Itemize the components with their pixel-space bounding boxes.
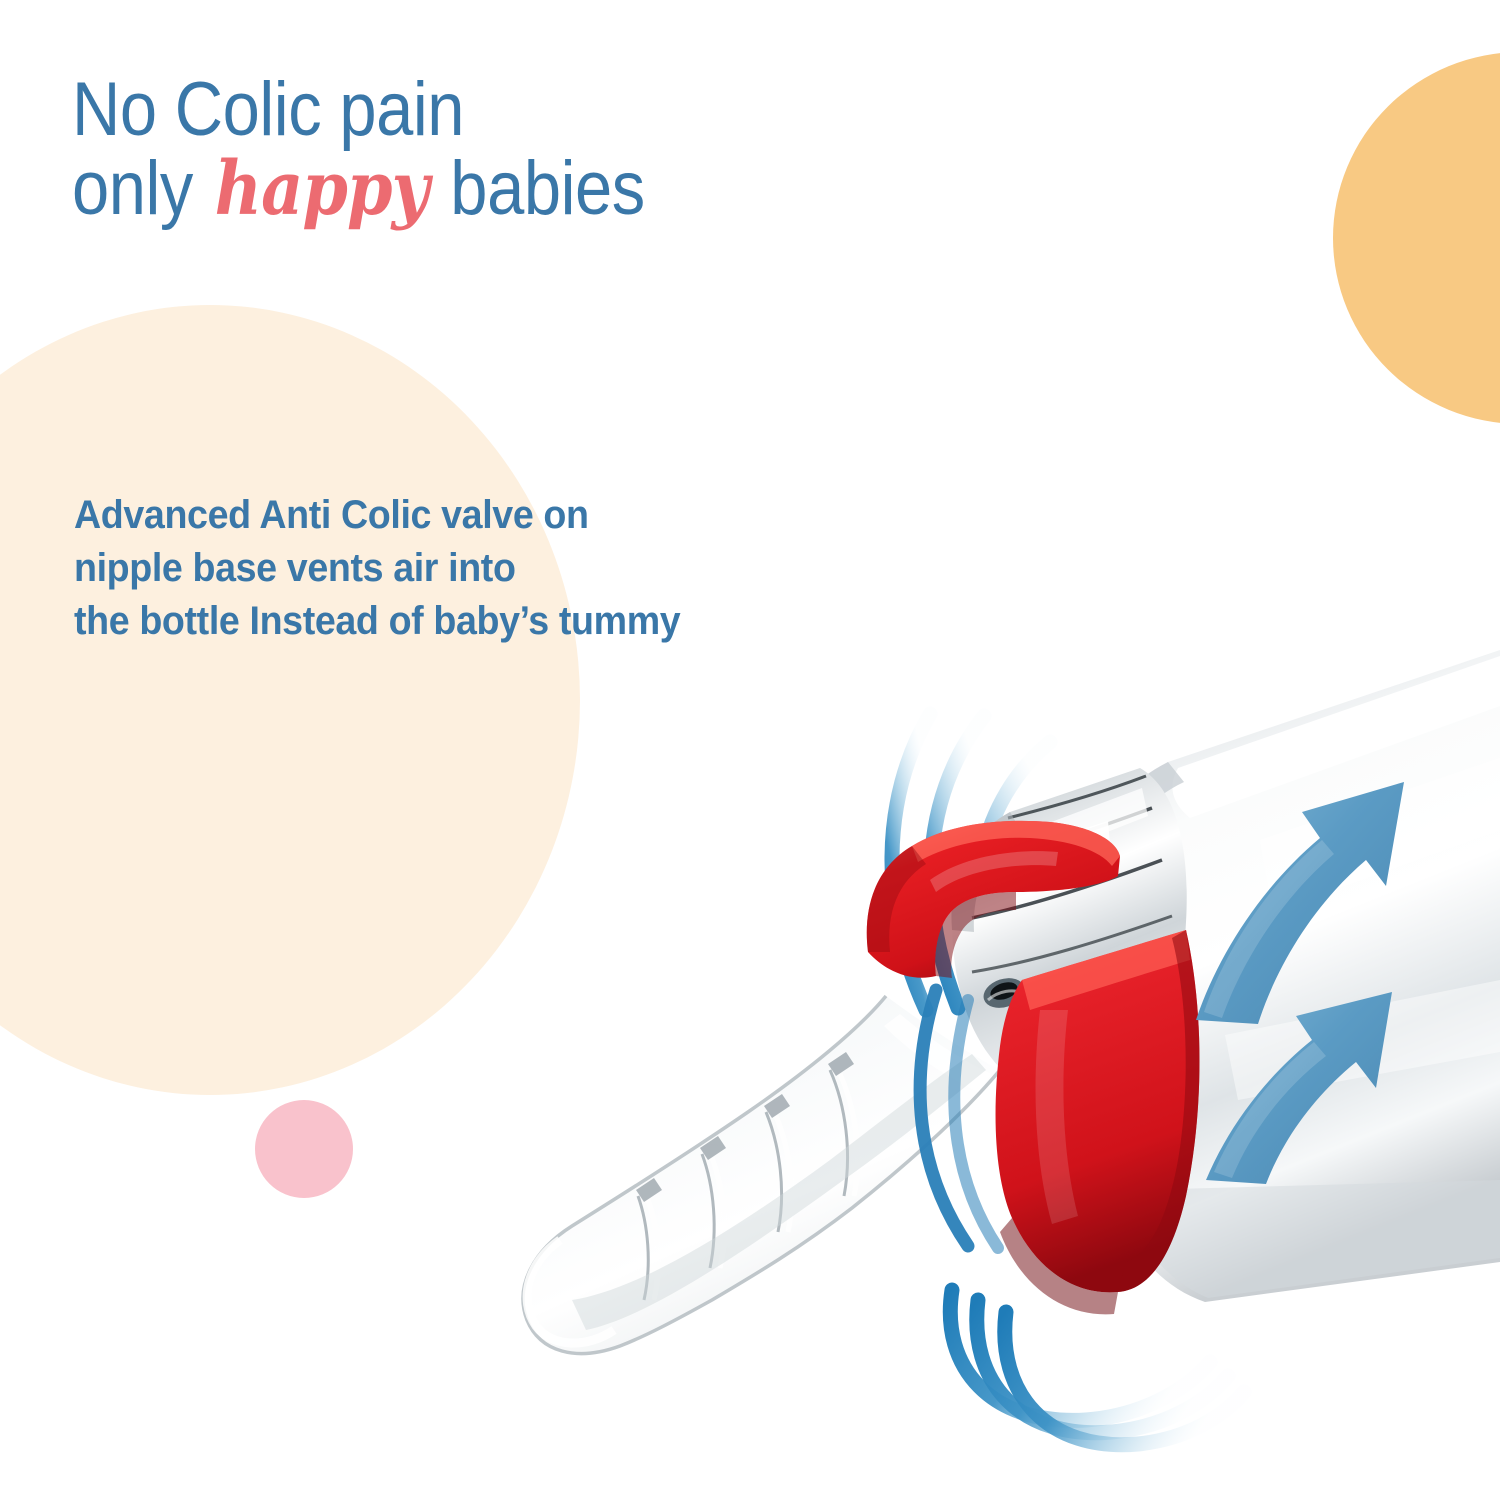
product-illustration [0,0,1500,1500]
promo-image-canvas: No Colic pain only happy babies Advanced… [0,0,1500,1500]
